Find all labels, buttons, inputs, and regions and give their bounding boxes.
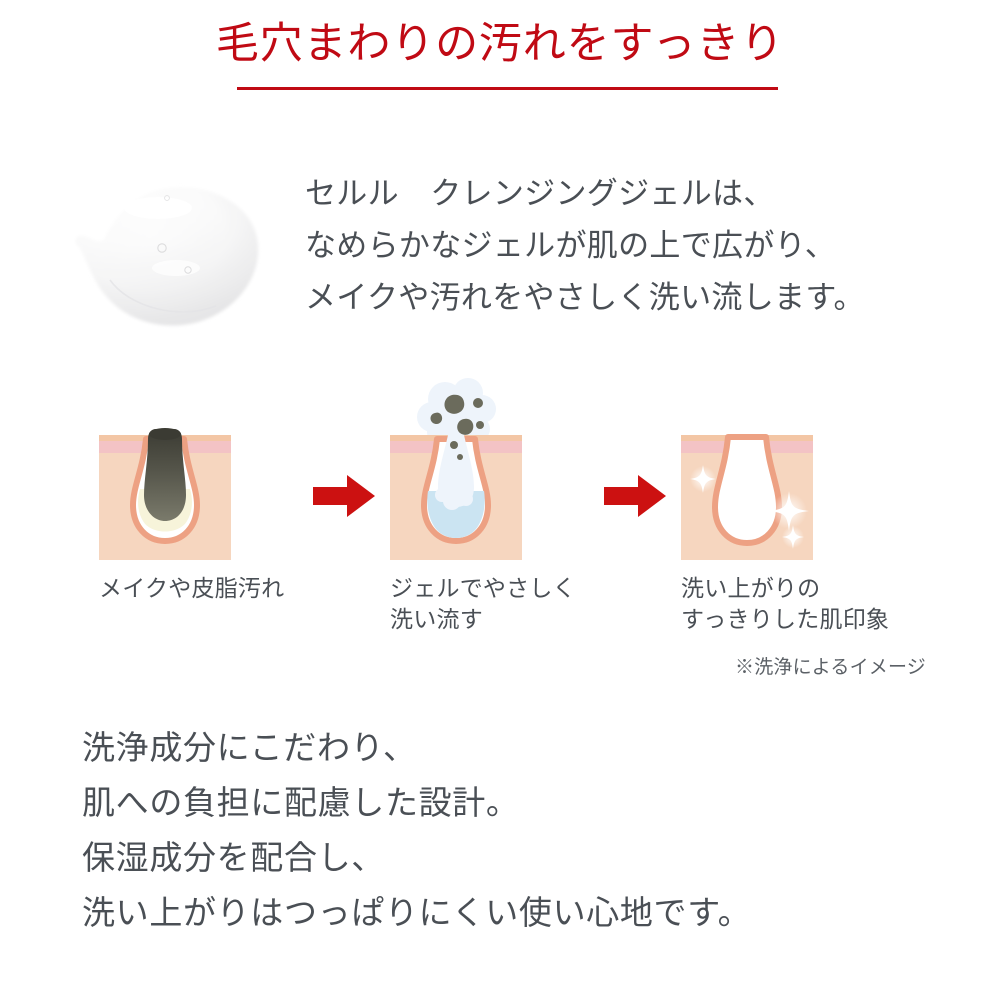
caption-panel-before: メイクや皮脂汚れ — [99, 573, 284, 604]
pore-cleansing-step-diagram — [0, 370, 1000, 580]
step-arrow-2-icon — [604, 473, 666, 519]
outro-paragraph: 洗浄成分にこだわり、 肌への負担に配慮した設計。 保湿成分を配合し、 洗い上がり… — [82, 722, 962, 942]
diagram-footnote: ※洗浄によるイメージ — [735, 652, 926, 679]
outro-line-3: 保湿成分を配合し、 — [82, 832, 962, 887]
caption-panel-during: ジェルでやさしく 洗い流す — [390, 573, 576, 635]
intro-line-2: なめらかなジェルが肌の上で広がり、 — [305, 220, 995, 272]
diagram-panel-before — [99, 427, 231, 560]
step-arrow-1-icon — [313, 473, 375, 519]
caption-panel-after: 洗い上がりの すっきりした肌印象 — [681, 573, 889, 635]
intro-line-1: セルル クレンジングジェルは、 — [305, 168, 995, 220]
title-underline-rule — [237, 87, 778, 90]
page-title-block: 毛穴まわりの汚れをすっきり — [0, 20, 1000, 69]
outro-line-1: 洗浄成分にこだわり、 — [82, 722, 962, 777]
intro-paragraph: セルル クレンジングジェルは、 なめらかなジェルが肌の上で広がり、 メイクや汚れ… — [305, 168, 995, 324]
diagram-panel-after — [681, 427, 813, 560]
intro-line-3: メイクや汚れをやさしく洗い流します。 — [305, 272, 995, 324]
outro-line-4: 洗い上がりはつっぱりにくい使い心地です。 — [82, 887, 962, 942]
outro-line-2: 肌への負担に配慮した設計。 — [82, 777, 962, 832]
diagram-panel-during — [390, 427, 522, 560]
gel-photo-circle-frame — [78, 138, 290, 350]
bubble-cloud — [417, 378, 496, 445]
page-title: 毛穴まわりの汚れをすっきり — [0, 20, 1000, 69]
